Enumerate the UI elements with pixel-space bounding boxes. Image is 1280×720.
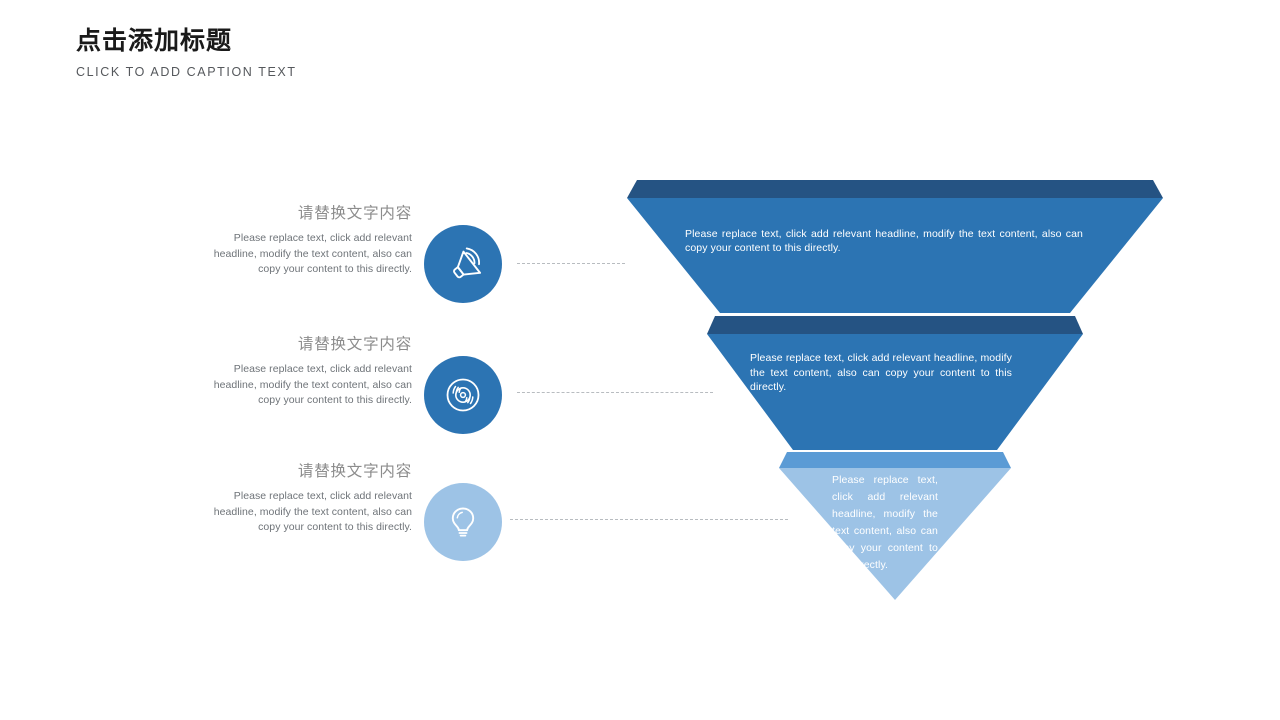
lightbulb-icon[interactable] xyxy=(424,483,502,561)
row-text-block: 请替换文字内容 Please replace text, click add r… xyxy=(200,203,412,278)
funnel-tier-1-text[interactable]: Please replace text, click add relevant … xyxy=(685,227,1083,255)
list-item: 请替换文字内容 Please replace text, click add r… xyxy=(0,334,640,454)
funnel-tier-3-text[interactable]: Please replace text, click add relevant … xyxy=(832,472,938,574)
disc-icon-glyph xyxy=(441,373,485,417)
funnel-tier-2-lip xyxy=(707,316,1083,334)
funnel-tier-2-text[interactable]: Please replace text, click add relevant … xyxy=(750,351,1012,395)
row-text-block: 请替换文字内容 Please replace text, click add r… xyxy=(200,334,412,409)
row-body[interactable]: Please replace text, click add relevant … xyxy=(200,489,412,536)
disc-icon[interactable] xyxy=(424,356,502,434)
funnel-tier-1-lip xyxy=(627,180,1163,198)
list-item: 请替换文字内容 Please replace text, click add r… xyxy=(0,461,640,581)
funnel-tier-1-body[interactable] xyxy=(627,198,1163,313)
page-subtitle[interactable]: CLICK TO ADD CAPTION TEXT xyxy=(76,63,676,81)
row-text-block: 请替换文字内容 Please replace text, click add r… xyxy=(200,461,412,536)
funnel-tier-3-lip xyxy=(779,452,1011,468)
lightbulb-icon-glyph xyxy=(442,501,484,543)
megaphone-icon-glyph xyxy=(442,243,484,285)
row-body[interactable]: Please replace text, click add relevant … xyxy=(200,231,412,278)
connector-line-1 xyxy=(517,263,625,264)
funnel-diagram: Please replace text, click add relevant … xyxy=(615,168,1175,608)
row-heading[interactable]: 请替换文字内容 xyxy=(200,461,412,483)
page-title[interactable]: 点击添加标题 xyxy=(76,24,676,58)
row-heading[interactable]: 请替换文字内容 xyxy=(200,203,412,225)
slide-canvas: 点击添加标题 CLICK TO ADD CAPTION TEXT 请替换文字内容… xyxy=(0,0,1280,720)
row-heading[interactable]: 请替换文字内容 xyxy=(200,334,412,356)
megaphone-icon[interactable] xyxy=(424,225,502,303)
row-body[interactable]: Please replace text, click add relevant … xyxy=(200,362,412,409)
slide-header: 点击添加标题 CLICK TO ADD CAPTION TEXT xyxy=(76,24,676,81)
